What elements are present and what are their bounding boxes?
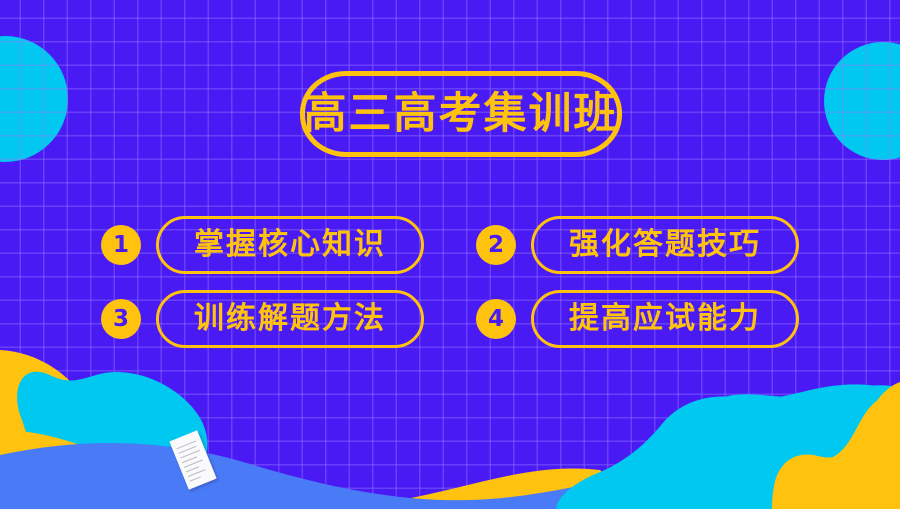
feature-number-badge-4: 4	[476, 299, 516, 339]
feature-pill-2[interactable]: 强化答题技巧	[531, 216, 799, 274]
feature-row-1: 1 掌握核心知识 2 强化答题技巧	[0, 216, 900, 274]
feature-number-badge-1: 1	[101, 225, 141, 265]
feature-pill-4[interactable]: 提高应试能力	[531, 290, 799, 348]
title-banner: 高三高考集训班	[300, 71, 622, 157]
feature-item-1[interactable]: 1 掌握核心知识	[101, 216, 424, 274]
poster-canvas: 高三高考集训班 1 掌握核心知识 2 强化答题技巧	[0, 0, 900, 509]
feature-label-2: 强化答题技巧	[569, 230, 761, 260]
feature-label-1: 掌握核心知识	[194, 230, 386, 260]
feature-pill-3[interactable]: 训练解题方法	[156, 290, 424, 348]
feature-pill-1[interactable]: 掌握核心知识	[156, 216, 424, 274]
feature-item-2[interactable]: 2 强化答题技巧	[476, 216, 799, 274]
feature-item-3[interactable]: 3 训练解题方法	[101, 290, 424, 348]
feature-number-badge-2: 2	[476, 225, 516, 265]
feature-label-3: 训练解题方法	[194, 304, 386, 334]
feature-list: 1 掌握核心知识 2 强化答题技巧 3 训练解题方法	[0, 216, 900, 364]
feature-label-4: 提高应试能力	[569, 304, 761, 334]
feature-row-2: 3 训练解题方法 4 提高应试能力	[0, 290, 900, 348]
poster-content: 高三高考集训班 1 掌握核心知识 2 强化答题技巧	[0, 0, 900, 509]
feature-number-badge-3: 3	[101, 299, 141, 339]
feature-item-4[interactable]: 4 提高应试能力	[476, 290, 799, 348]
page-title: 高三高考集训班	[304, 93, 619, 136]
